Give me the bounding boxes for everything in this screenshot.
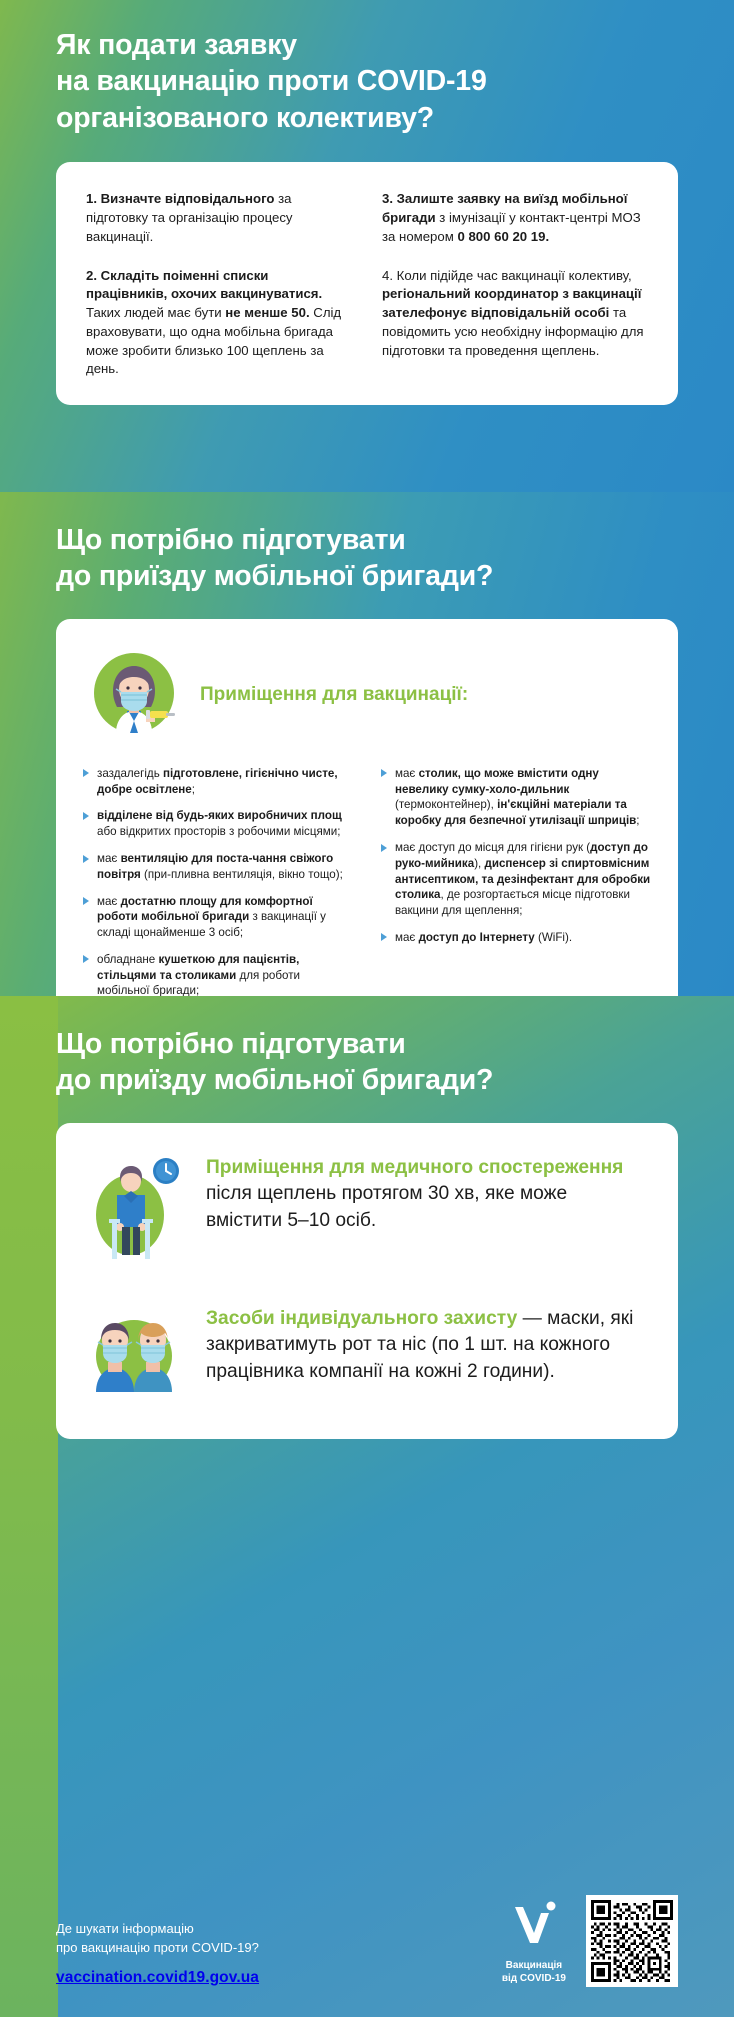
- list-item: заздалегідь підготовлене, гігієнічно чис…: [82, 766, 354, 798]
- steps-card: 1. Визначте відповідального за підготовк…: [56, 162, 678, 405]
- list-item: має столик, що може вмістити одну невели…: [380, 766, 652, 829]
- list-item: має достатню площу для комфортної роботи…: [82, 894, 354, 941]
- section-how-to-apply: Як подати заявку на вакцинацію проти COV…: [0, 0, 734, 492]
- section-room-requirements: Що потрібно підготувати до приїзду мобіл…: [0, 492, 734, 996]
- list-item: має вентиляцію для поста-чання свіжого п…: [82, 851, 354, 883]
- footer-question: Де шукати інформацію про вакцинацію прот…: [56, 1920, 259, 1957]
- brand-name: Вакцинація від COVID-19: [502, 1960, 566, 1985]
- step-item: 4. Коли підійде час вакцинації колективу…: [382, 267, 648, 361]
- step-item: 3. Залиште заявку на виїзд мобільної бри…: [382, 190, 648, 246]
- section-additional-requirements: Що потрібно підготувати до приїзду мобіл…: [0, 996, 734, 2017]
- two-people-with-masks-illustration: [86, 1304, 182, 1405]
- section1-heading: Як подати заявку на вакцинацію проти COV…: [0, 0, 734, 136]
- step-item: 1. Визначте відповідального за підготовк…: [86, 190, 352, 246]
- requirements-column-right: має столик, що може вмістити одну невели…: [380, 766, 652, 996]
- nurse-with-syringe-illustration: [86, 645, 182, 746]
- feature-text: Приміщення для медичного спостереження п…: [206, 1153, 648, 1235]
- brand-block: Вакцинація від COVID-19: [502, 1899, 566, 1987]
- features-card: Приміщення для медичного спостереження п…: [56, 1123, 678, 1439]
- seated-patient-with-clock-illustration: [86, 1153, 182, 1268]
- steps-column-left: 1. Визначте відповідального за підготовк…: [86, 190, 352, 379]
- feature-ppe: Засоби індивідуального захисту — маски, …: [86, 1304, 648, 1405]
- room-card-title: Приміщення для вакцинації:: [200, 684, 468, 707]
- list-item: відділене від будь-яких виробничих площ …: [82, 808, 354, 840]
- list-item: обладнане кушеткою для пацієнтів, стільц…: [82, 952, 354, 996]
- list-item: має доступ до місця для гігієни рук (дос…: [380, 840, 652, 919]
- feature-text: Засоби індивідуального захисту — маски, …: [206, 1304, 648, 1386]
- qr-code[interactable]: [586, 1895, 678, 1987]
- step-item: 2. Складіть поіменні списки працівників,…: [86, 267, 352, 379]
- footer-url-link[interactable]: vaccination.covid19.gov.ua: [56, 1969, 259, 1986]
- steps-column-right: 3. Залиште заявку на виїзд мобільної бри…: [382, 190, 648, 379]
- section3-heading: Що потрібно підготувати до приїзду мобіл…: [0, 996, 734, 1099]
- footer: Де шукати інформацію про вакцинацію прот…: [0, 1895, 734, 2017]
- list-item: має доступ до Інтернету (WiFi).: [380, 930, 652, 946]
- section2-heading: Що потрібно підготувати до приїзду мобіл…: [0, 492, 734, 595]
- room-card: Приміщення для вакцинації: заздалегідь п…: [56, 619, 678, 996]
- feature-observation-room: Приміщення для медичного спостереження п…: [86, 1153, 648, 1268]
- check-v-logo: [502, 1899, 566, 1956]
- infographic-poster: Як подати заявку на вакцинацію проти COV…: [0, 0, 734, 2017]
- requirements-column-left: заздалегідь підготовлене, гігієнічно чис…: [82, 766, 354, 996]
